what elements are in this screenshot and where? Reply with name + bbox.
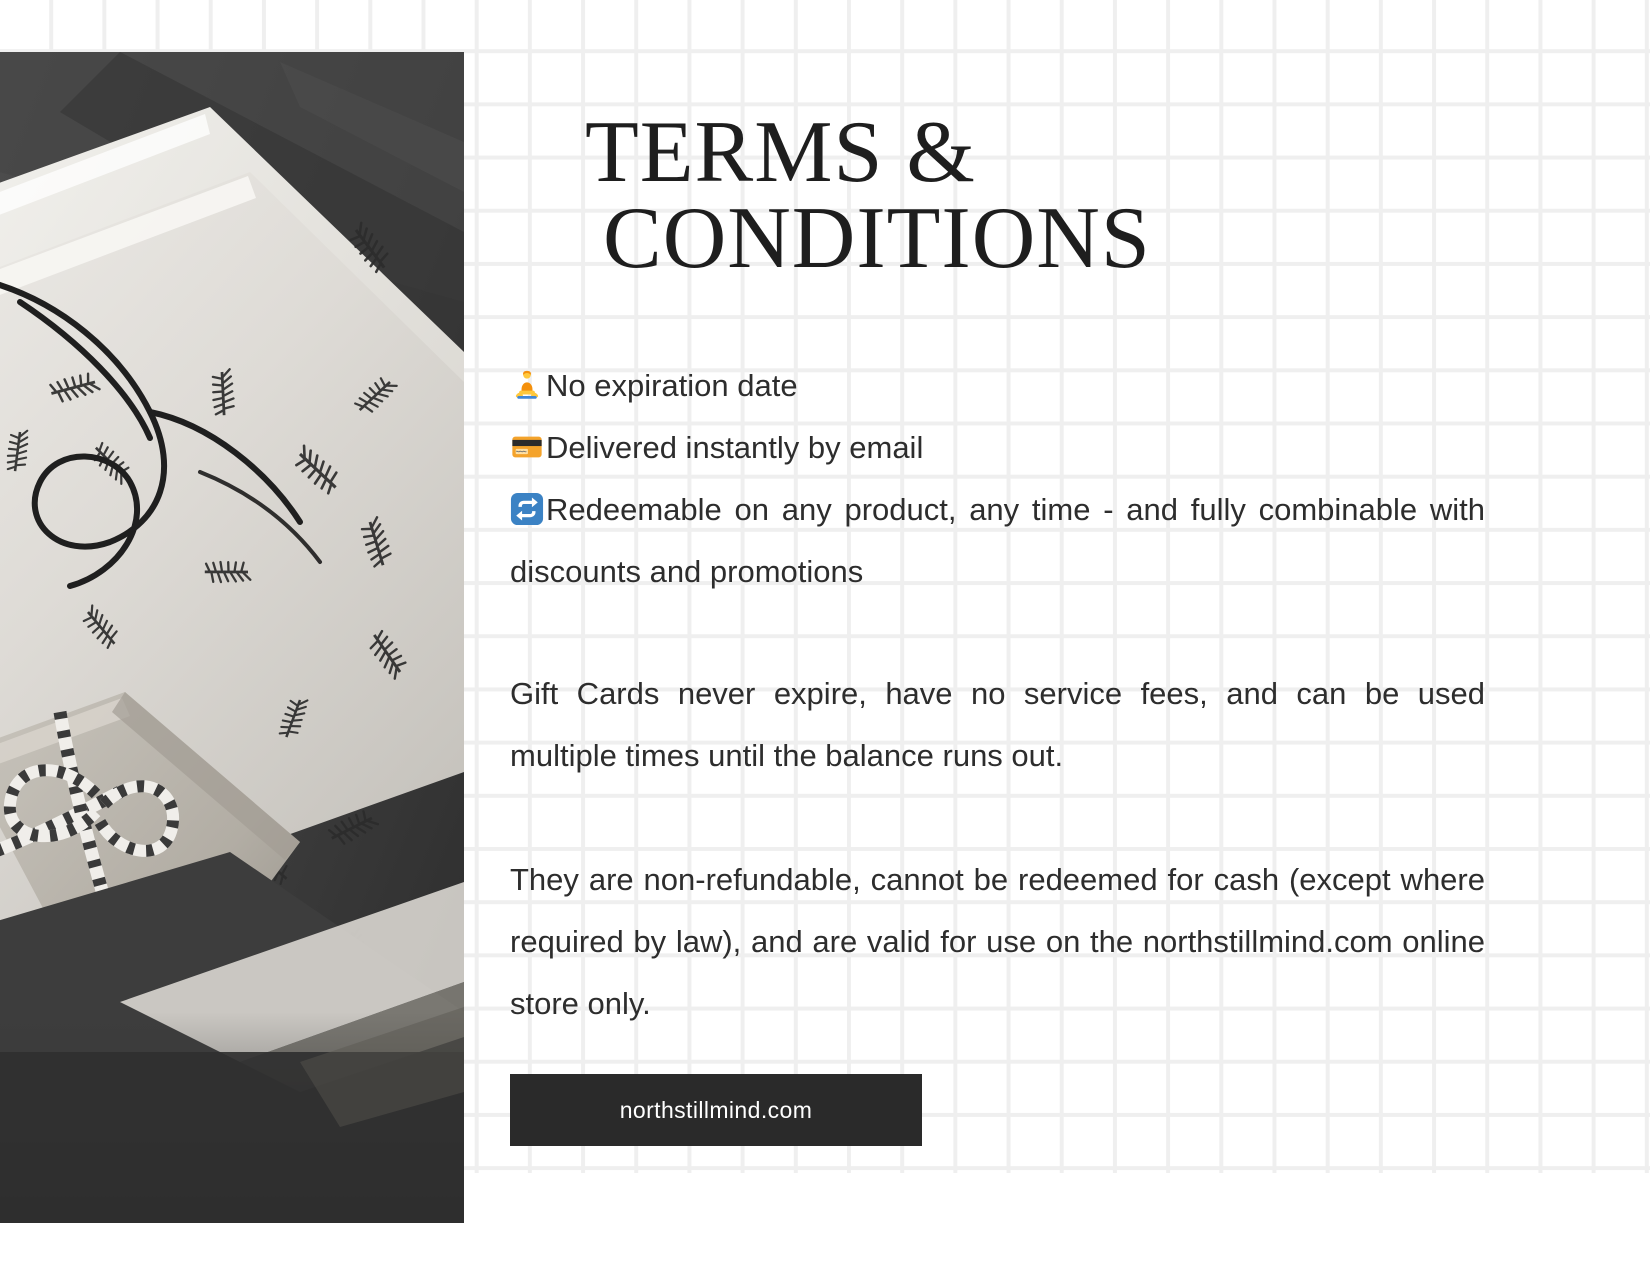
- slide-canvas: TERMS & CONDITIONS No expiration date: [0, 0, 1650, 1275]
- list-item: No expiration date: [510, 355, 1485, 417]
- paragraph-2: They are non-refundable, cannot be redee…: [510, 849, 1485, 1035]
- lotus-person-icon: [510, 368, 544, 402]
- credit-card-icon: [510, 430, 544, 464]
- list-item-label: No expiration date: [546, 368, 798, 403]
- website-url-bar: northstillmind.com: [510, 1074, 922, 1146]
- list-item: Delivered instantly by email: [510, 417, 1485, 479]
- repeat-icon: [510, 492, 544, 526]
- title-line-1: TERMS &: [585, 104, 976, 201]
- title-line-2: CONDITIONS: [603, 196, 1485, 282]
- feature-bullet-list: No expiration date Delivered instantly b…: [510, 355, 1485, 603]
- list-item-label: Delivered instantly by email: [546, 430, 923, 465]
- website-url-label: northstillmind.com: [620, 1097, 813, 1124]
- gift-wrapping-photo: [0, 52, 464, 1223]
- paragraph-1: Gift Cards never expire, have no service…: [510, 663, 1485, 787]
- list-item: Redeemable on any product, any time - an…: [510, 479, 1485, 603]
- body-paragraphs: Gift Cards never expire, have no service…: [510, 663, 1485, 1035]
- page-title: TERMS & CONDITIONS: [585, 110, 1485, 282]
- list-item-label: Redeemable on any product, any time - an…: [510, 492, 1485, 589]
